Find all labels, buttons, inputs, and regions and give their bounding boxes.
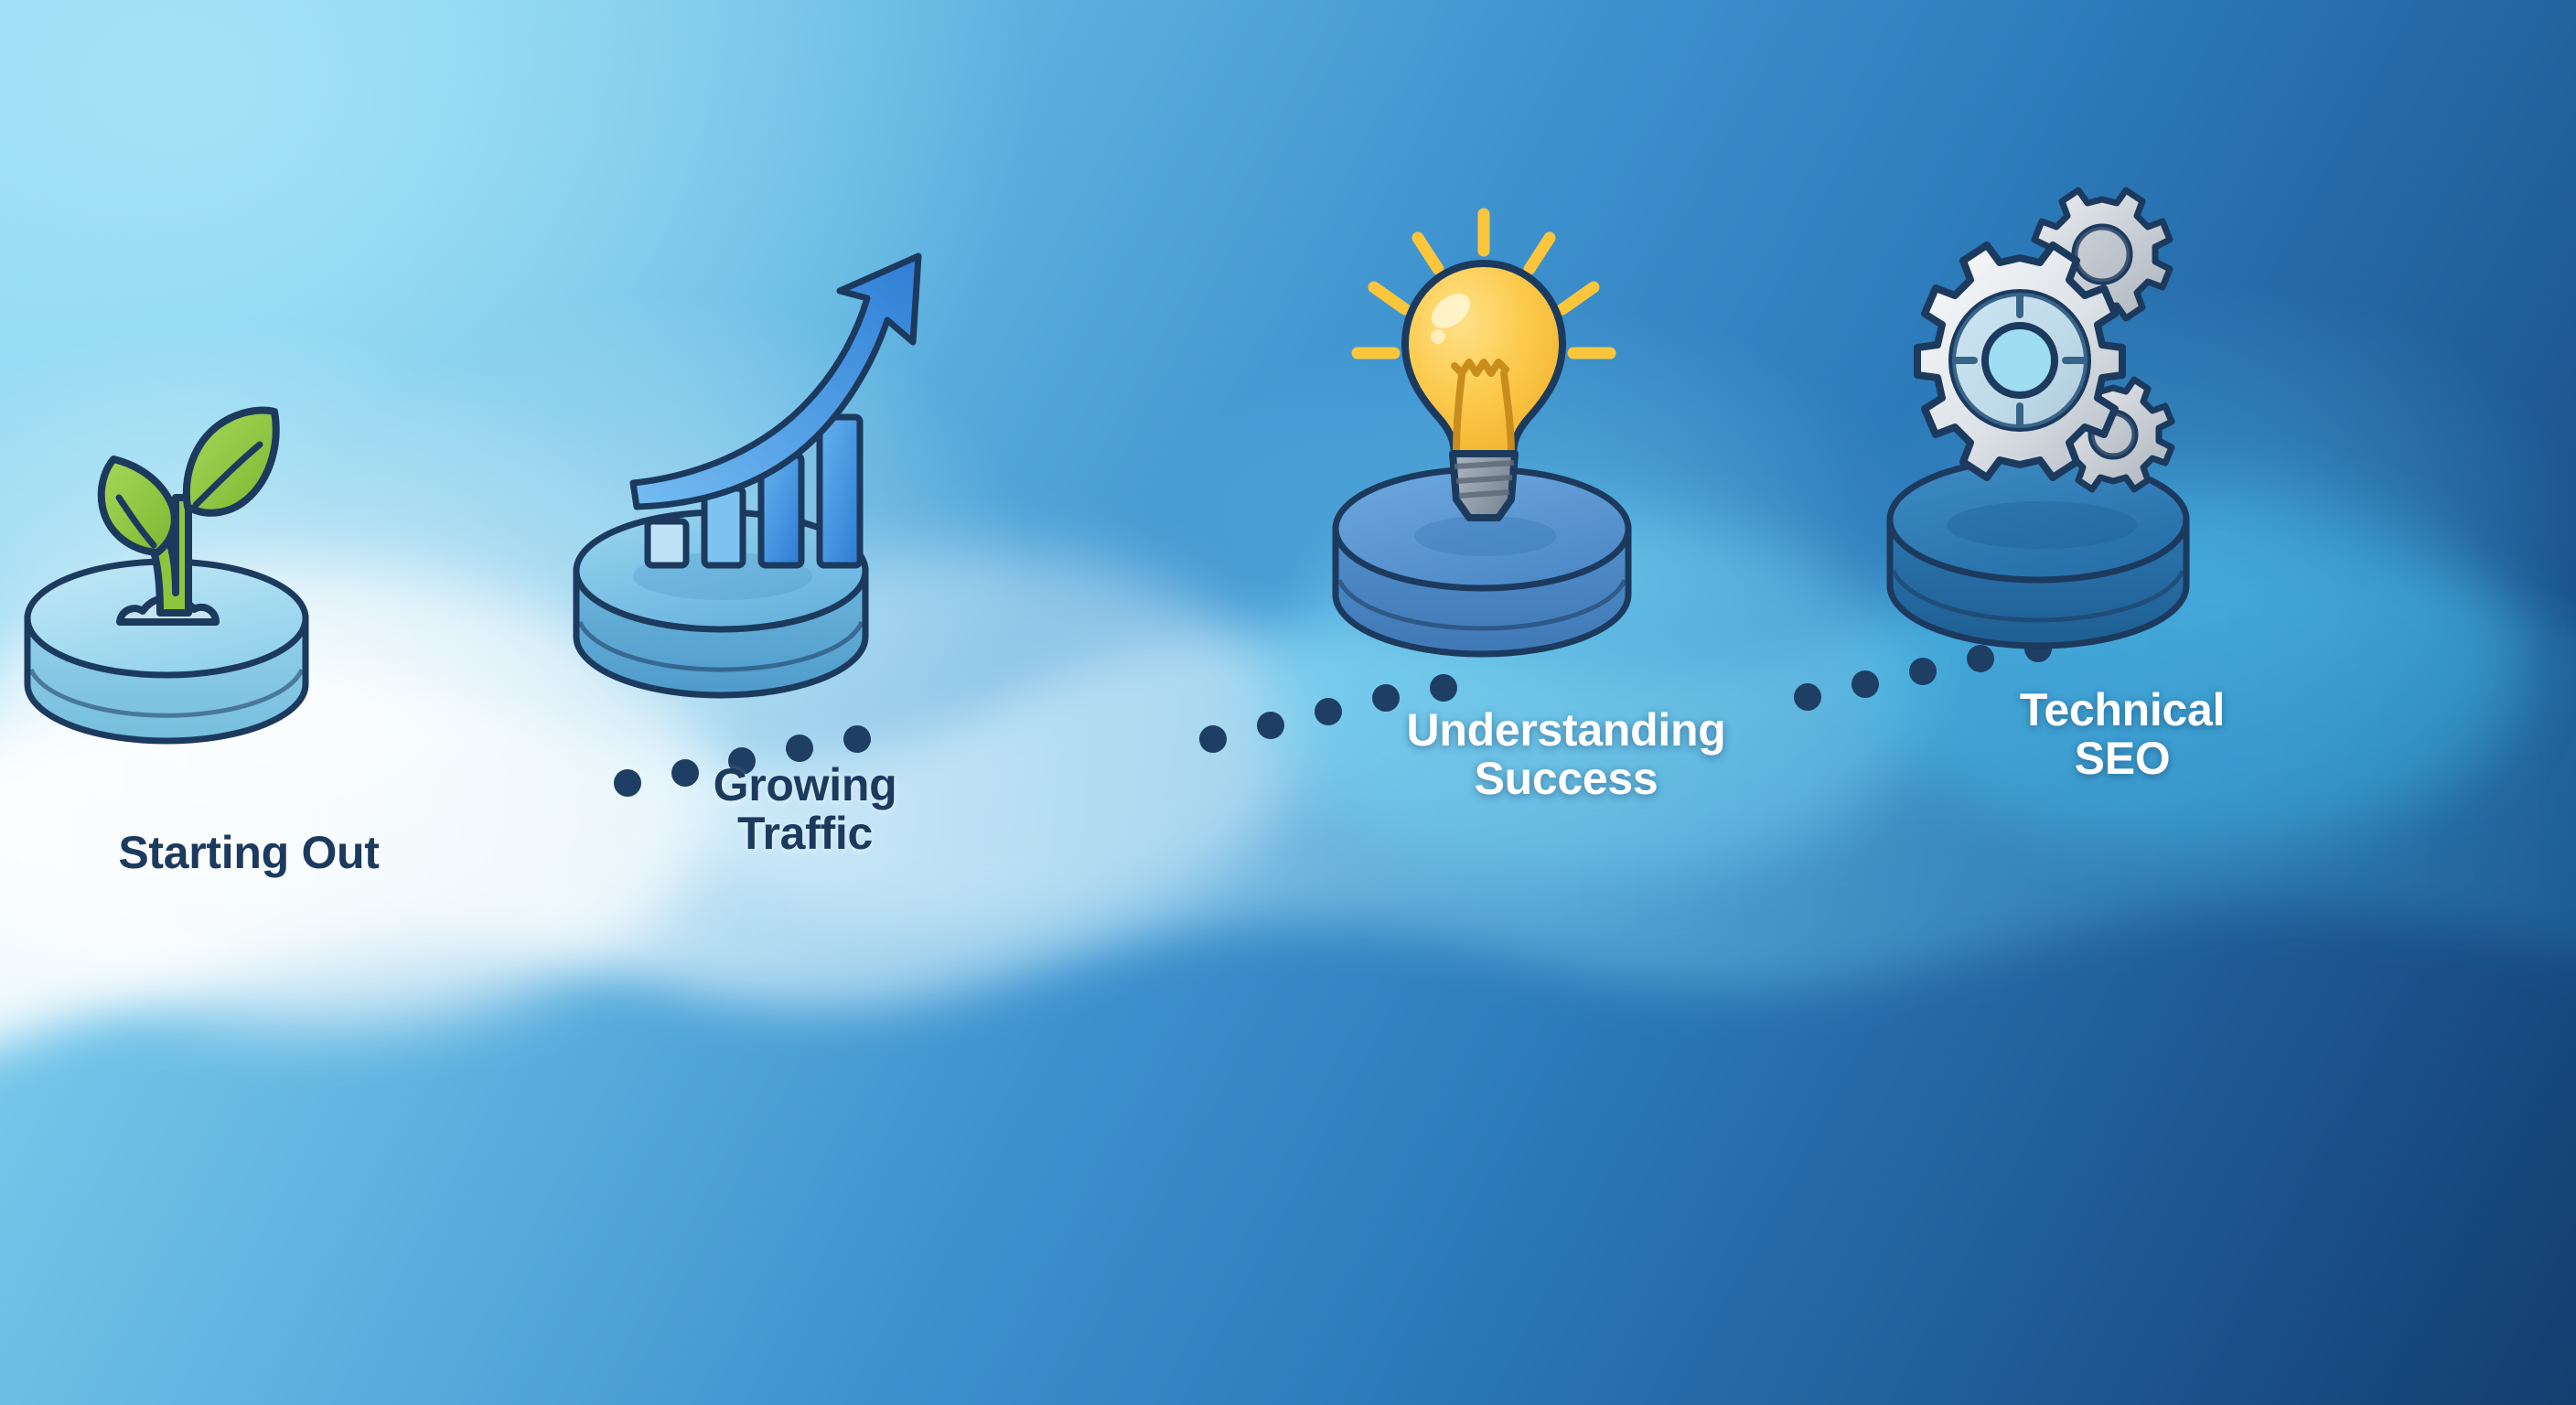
- icon-shadow: [1414, 516, 1557, 556]
- station-label: Technical SEO: [1866, 686, 2378, 783]
- station-label: Starting Out: [0, 829, 505, 877]
- station-artwork-1: [0, 282, 505, 794]
- station-label: Growing Traffic: [549, 761, 1061, 858]
- infographic-canvas: Starting Out: [0, 0, 2576, 1405]
- station-technical-seo[interactable]: Technical SEO: [1866, 157, 2378, 783]
- bulb-screw-base: [1453, 454, 1515, 518]
- bar-4: [820, 417, 860, 565]
- station-growing-traffic[interactable]: Growing Traffic: [549, 231, 1061, 858]
- station-artwork-2: [549, 231, 1061, 743]
- sprout-leaf-left: [102, 459, 175, 552]
- icon-shadow: [1947, 501, 2137, 549]
- station-understanding-success[interactable]: Understanding Success: [1310, 174, 1822, 803]
- station-label: Understanding Success: [1310, 706, 1822, 803]
- growth-arrow: [633, 256, 918, 507]
- bar-2: [704, 488, 743, 565]
- bar-1: [648, 521, 686, 565]
- station-artwork-4: [1866, 157, 2378, 670]
- station-artwork-3: [1310, 174, 1822, 686]
- station-starting-out[interactable]: Starting Out: [0, 282, 505, 877]
